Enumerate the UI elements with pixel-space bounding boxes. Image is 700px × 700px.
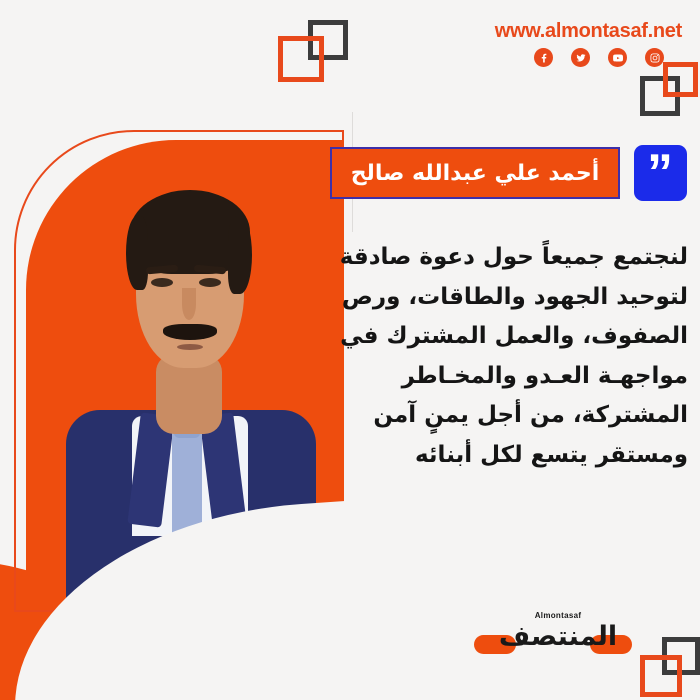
eye-right — [199, 278, 221, 287]
poster-canvas: www.almontasaf.net — [0, 0, 700, 700]
mouth — [177, 344, 203, 350]
logo-latin-wordmark: Almontasaf — [508, 611, 608, 620]
site-url[interactable]: www.almontasaf.net — [495, 20, 682, 43]
quote-line: الصفوف، والعمل المشترك في — [336, 317, 688, 357]
quote-line: مواجهـة العـدو والمخـاطر — [336, 357, 688, 397]
quote-line: لتوحيد الجهود والطاقات، ورص — [336, 278, 688, 318]
eye-left — [151, 278, 173, 287]
twitter-icon[interactable] — [571, 48, 590, 67]
facebook-icon[interactable] — [534, 48, 553, 67]
instagram-icon[interactable] — [645, 48, 664, 67]
social-links-row — [534, 48, 664, 67]
speaker-name-banner: أحمد علي عبدالله صالح — [330, 147, 620, 199]
decorative-square-orange-bottom-right — [640, 655, 682, 697]
almontasaf-logo[interactable]: المنتصف Almontasaf — [470, 605, 640, 667]
quote-line: لنجتمع جميعاً حول دعوة صادقة — [336, 238, 688, 278]
nose — [182, 288, 196, 320]
moustache — [163, 324, 217, 340]
hair-side-right — [228, 216, 252, 294]
hair-side-left — [126, 216, 148, 290]
speaker-name: أحمد علي عبدالله صالح — [351, 161, 600, 186]
decorative-square-orange-top-right — [663, 62, 698, 97]
quote-mark-badge: ” — [634, 145, 687, 201]
speaker-portrait-block — [0, 118, 348, 618]
youtube-icon[interactable] — [608, 48, 627, 67]
quote-text: لنجتمع جميعاً حول دعوة صادقة لتوحيد الجه… — [336, 238, 688, 475]
decorative-square-orange-top-left — [278, 36, 324, 82]
logo-arabic-wordmark: المنتصف — [484, 623, 632, 650]
quote-mark-icon: ” — [647, 157, 674, 189]
quote-line: ومستقر يتسع لكل أبنائه — [336, 436, 688, 476]
quote-line: المشتركة، من أجل يمنٍ آمن — [336, 396, 688, 436]
